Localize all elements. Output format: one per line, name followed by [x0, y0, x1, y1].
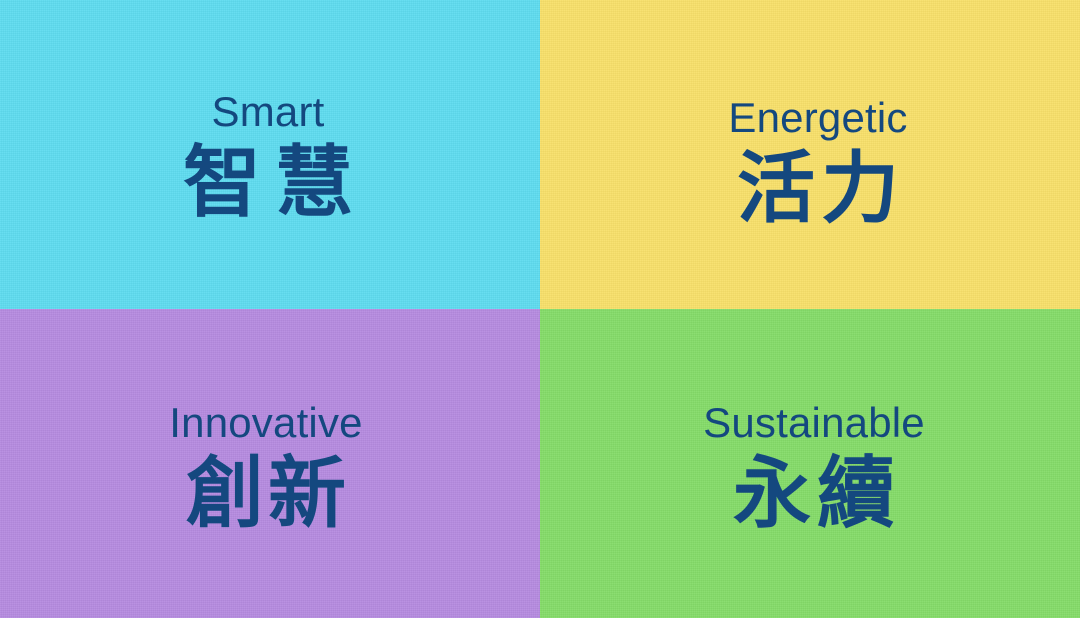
quadrant-smart-label-en: Smart — [211, 90, 324, 134]
quadrant-sustainable-label-en: Sustainable — [703, 401, 925, 445]
quadrant-innovative: Innovative 創新 — [0, 309, 540, 618]
quadrant-energetic-label-cjk: 活力 — [731, 146, 905, 233]
quadrant-sustainable: Sustainable 永續 — [540, 309, 1080, 618]
quadrant-energetic: Energetic 活力 — [540, 0, 1080, 309]
brand-values-grid: Smart 智慧 Energetic 活力 Innovative 創新 Sust… — [0, 0, 1080, 618]
quadrant-innovative-label-cjk: 創新 — [182, 451, 350, 538]
quadrant-smart-content: Smart 智慧 — [169, 90, 367, 227]
quadrant-energetic-content: Energetic 活力 — [728, 96, 907, 233]
quadrant-smart-label-cjk: 智慧 — [169, 140, 367, 227]
quadrant-sustainable-content: Sustainable 永續 — [703, 401, 925, 538]
quadrant-sustainable-label-cjk: 永續 — [727, 451, 901, 538]
quadrant-innovative-content: Innovative 創新 — [169, 401, 362, 538]
quadrant-energetic-label-en: Energetic — [728, 96, 907, 140]
quadrant-smart: Smart 智慧 — [0, 0, 540, 309]
quadrant-innovative-label-en: Innovative — [169, 401, 362, 445]
